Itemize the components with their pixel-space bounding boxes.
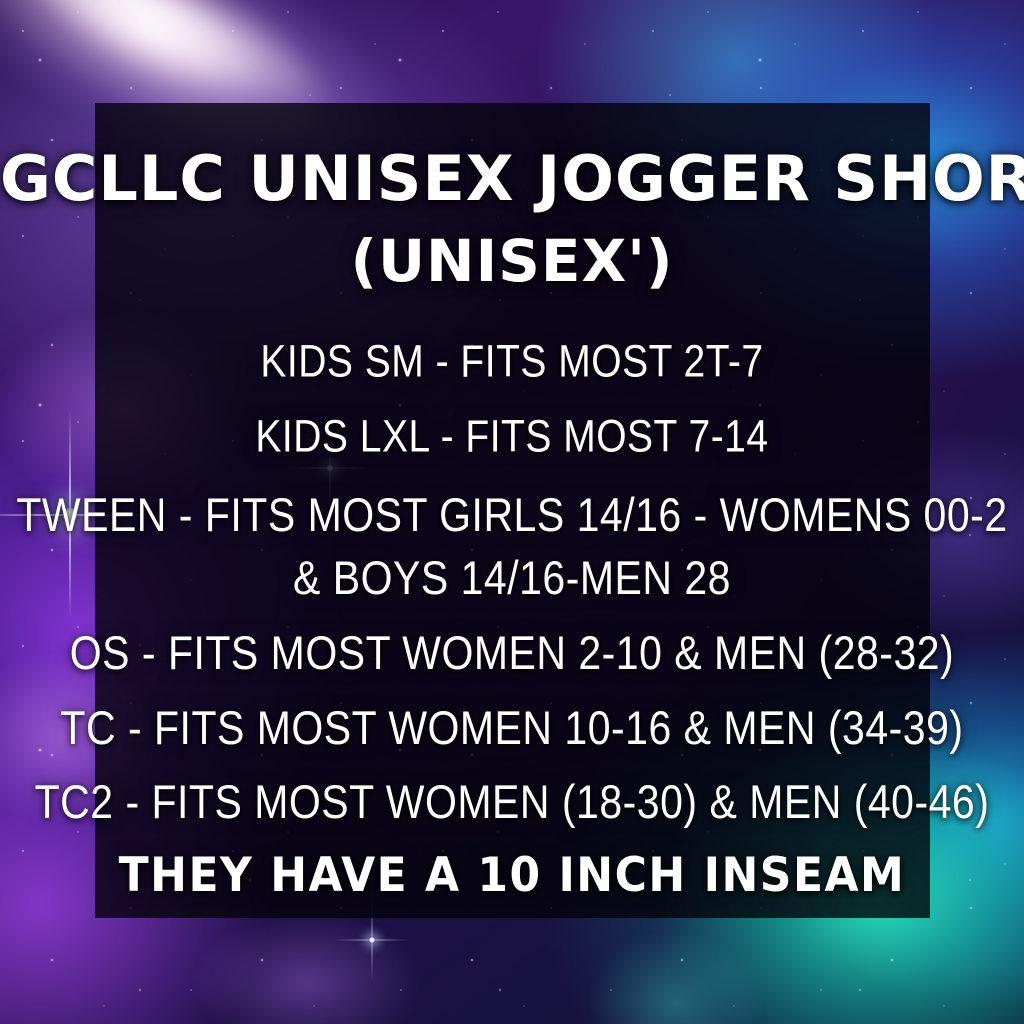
text-content-block: GCLLC UNISEX JOGGER SHORTS (UNISEX') KID… [0,0,1024,1024]
size-line-tween-continued: & BOYS 14/16-MEN 28 [0,551,1024,606]
size-line-tc2: TC2 - FITS MOST WOMEN (18-30) & MEN (40-… [0,775,1024,830]
size-line-os: OS - FITS MOST WOMEN 2-10 & MEN (28-32) [0,626,1024,681]
graphic-title-line-2: (UNISEX') [0,232,1024,290]
inseam-footer-note: THEY HAVE A 10 INCH INSEAM [0,848,1024,903]
graphic-title-line-1: GCLLC UNISEX JOGGER SHORTS [0,148,1024,210]
size-line-tc: TC - FITS MOST WOMEN 10-16 & MEN (34-39) [0,701,1024,756]
size-line-kids-lxl: KIDS LXL - FITS MOST 7-14 [0,412,1024,463]
size-line-tween: TWEEN - FITS MOST GIRLS 14/16 - WOMENS 0… [0,488,1024,543]
size-chart-graphic: GCLLC UNISEX JOGGER SHORTS (UNISEX') KID… [0,0,1024,1024]
size-line-kids-sm: KIDS SM - FITS MOST 2T-7 [0,337,1024,388]
